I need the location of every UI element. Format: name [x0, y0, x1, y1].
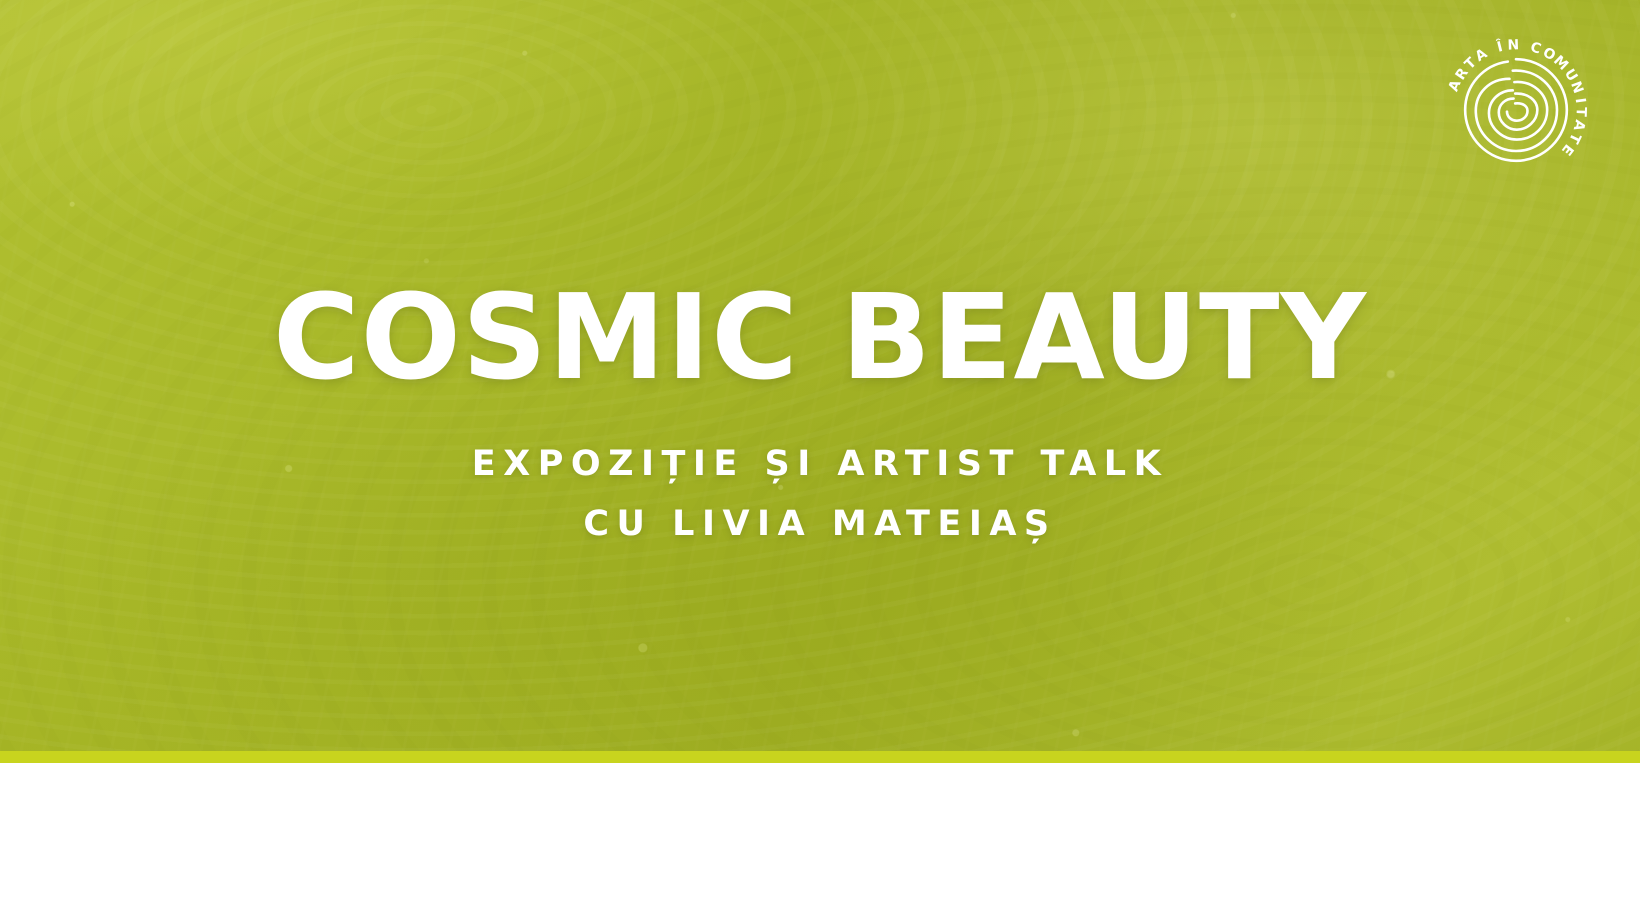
page-title: COSMIC BEAUTY: [273, 278, 1367, 396]
divider-bar: [0, 751, 1640, 763]
footer-partners-bar: Finanțat de: Coordonat de: Implementat l…: [0, 763, 1640, 924]
subtitle-line-2: CU LIVIA MATEIAȘ: [583, 504, 1056, 544]
poster-root: A R T A Î N C O M U N I T A T E COSMIC B…: [0, 0, 1640, 924]
subtitle-line-1: EXPOZIȚIE ȘI ARTIST TALK: [472, 444, 1168, 484]
hero-text-block: COSMIC BEAUTY EXPOZIȚIE ȘI ARTIST TALK C…: [0, 0, 1640, 786]
